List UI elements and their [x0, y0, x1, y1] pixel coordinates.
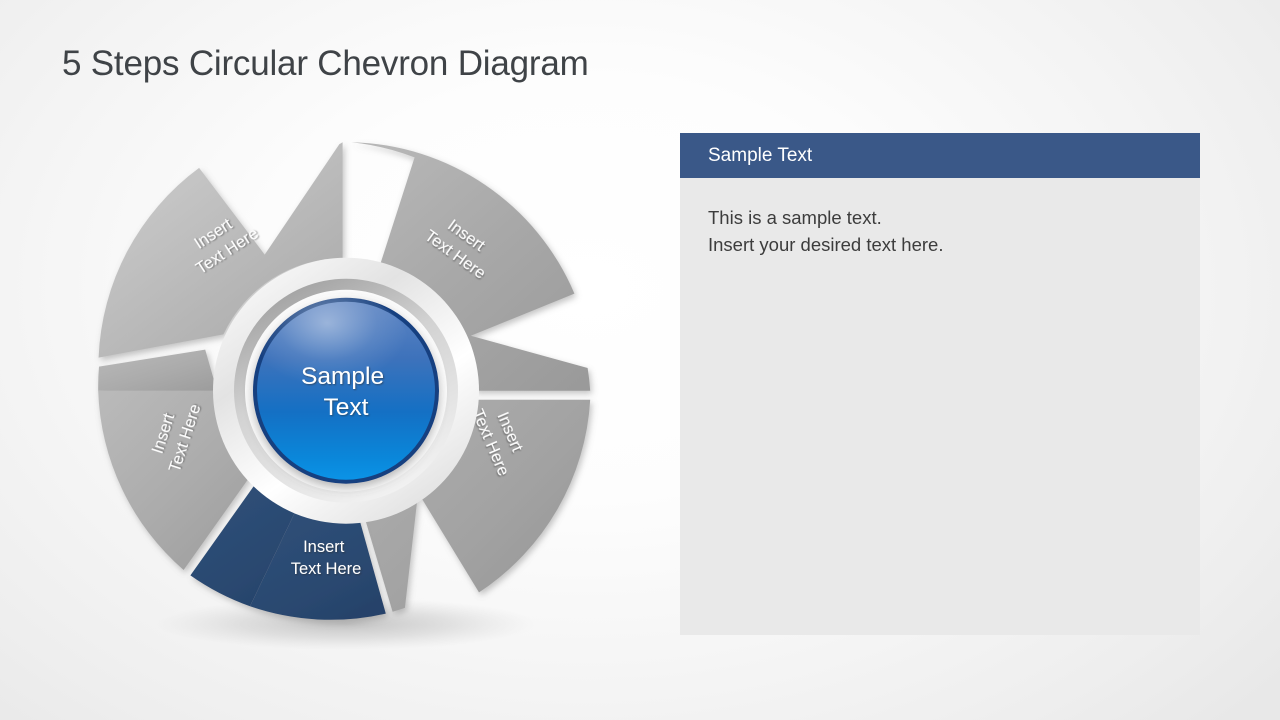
text-panel-line-1: This is a sample text.: [708, 204, 1172, 231]
slide-canvas: 5 Steps Circular Chevron Diagram: [0, 0, 1280, 720]
seg3-line2: Text Here: [291, 560, 362, 578]
text-panel-header: Sample Text: [680, 133, 1200, 178]
center-label-line2: Text: [324, 394, 369, 421]
text-panel-title: Sample Text: [708, 146, 812, 165]
circular-chevron-diagram: Insert Text Here Insert Text Here Insert: [74, 118, 619, 663]
text-panel-line-2: Insert your desired text here.: [708, 231, 1172, 258]
seg3-line1: Insert: [303, 538, 345, 556]
text-panel: Sample Text This is a sample text. Inser…: [680, 133, 1200, 635]
center-label-line1: Sample: [301, 363, 384, 390]
text-panel-body[interactable]: This is a sample text. Insert your desir…: [680, 178, 1200, 258]
center-button-group[interactable]: Sample Text: [213, 258, 479, 524]
page-title: 5 Steps Circular Chevron Diagram: [62, 44, 589, 84]
